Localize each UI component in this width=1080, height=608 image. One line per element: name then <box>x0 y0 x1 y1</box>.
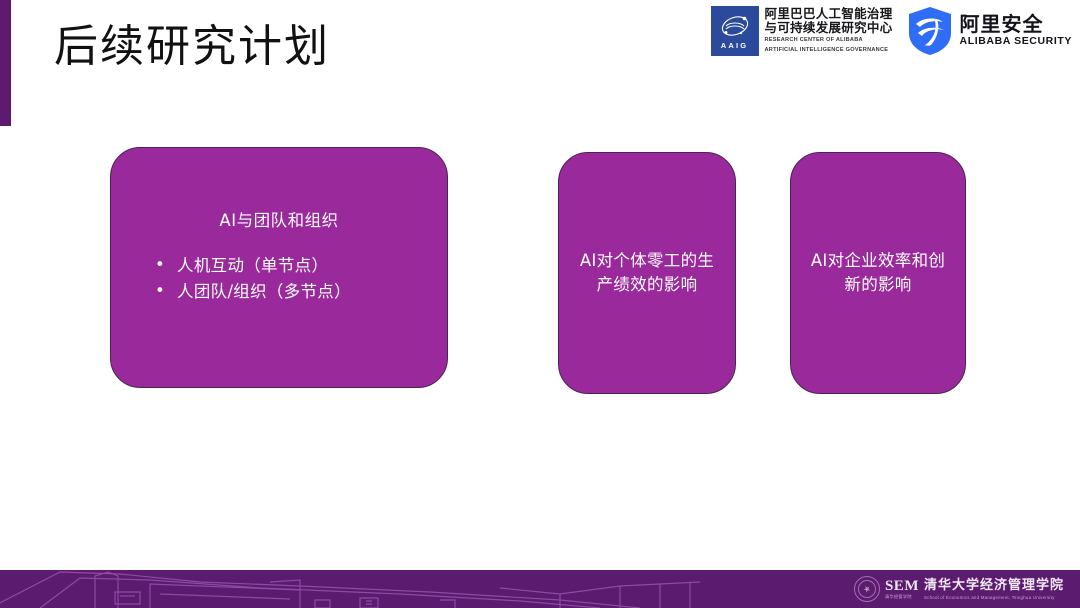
list-item-label: 人团队/组织（多节点） <box>177 279 351 305</box>
page-title: 后续研究计划 <box>54 22 330 73</box>
content-box-firm-efficiency: AI对企业效率和创新的影响 <box>790 152 966 394</box>
box-heading: AI与团队和组织 <box>133 210 425 231</box>
sem-cn-name: 清华大学经济管理学院 <box>924 578 1064 592</box>
box-body-text: AI对个体零工的生产绩效的影响 <box>573 249 721 297</box>
content-box-ai-team-org: AI与团队和组织 • 人机互动（单节点） • 人团队/组织（多节点） <box>110 147 448 388</box>
list-item-label: 人机互动（单节点） <box>177 253 328 279</box>
bullet-list: • 人机互动（单节点） • 人团队/组织（多节点） <box>133 253 425 304</box>
alibaba-security-en: ALIBABA SECURITY <box>960 36 1072 48</box>
alibaba-security-logo: 阿里安全 ALIBABA SECURITY <box>907 6 1072 56</box>
shield-icon <box>907 6 953 56</box>
list-item: • 人机互动（单节点） <box>155 253 425 279</box>
aaig-cn-line-1: 阿里巴巴人工智能治理 <box>765 7 893 21</box>
aaig-logo: AAIG 阿里巴巴人工智能治理 与可持续发展研究中心 RESEARCH CENT… <box>711 6 893 56</box>
sem-abbr-block: SEM 清华经管学院 <box>885 579 919 599</box>
left-accent-stripe <box>0 0 11 126</box>
box-body-text: AI对企业效率和创新的影响 <box>805 249 951 297</box>
aaig-cn-line-2: 与可持续发展研究中心 <box>765 21 893 35</box>
sem-en-name: School of Economics and Management, Tsin… <box>924 595 1064 600</box>
aaig-wordmark: AAIG <box>721 41 749 50</box>
sem-logo: SEM 清华经管学院 清华大学经济管理学院 School of Economic… <box>854 576 1064 602</box>
bullet-marker-icon: • <box>155 279 165 304</box>
list-item: • 人团队/组织（多节点） <box>155 279 425 305</box>
aaig-text-block: 阿里巴巴人工智能治理 与可持续发展研究中心 RESEARCH CENTER OF… <box>765 7 893 54</box>
sem-abbr: SEM <box>885 579 919 594</box>
aaig-en-line-1: RESEARCH CENTER OF ALIBABA <box>765 37 893 45</box>
aaig-en-line-2: ARTIFICIAL INTELLIGENCE GOVERNANCE <box>765 47 893 55</box>
footer-band: SEM 清华经管学院 清华大学经济管理学院 School of Economic… <box>0 570 1080 608</box>
alibaba-security-cn: 阿里安全 <box>960 14 1072 35</box>
tsinghua-seal-icon <box>854 576 880 602</box>
sem-name-block: 清华大学经济管理学院 School of Economics and Manag… <box>924 578 1064 599</box>
sem-abbr-sub: 清华经管学院 <box>885 595 912 599</box>
header-logo-band: AAIG 阿里巴巴人工智能治理 与可持续发展研究中心 RESEARCH CENT… <box>711 6 1072 56</box>
content-box-gig-productivity: AI对个体零工的生产绩效的影响 <box>558 152 736 394</box>
bullet-marker-icon: • <box>155 253 165 278</box>
alibaba-security-text-block: 阿里安全 ALIBABA SECURITY <box>960 14 1072 48</box>
footer-line-art <box>0 570 760 608</box>
aaig-mark-icon: AAIG <box>711 6 759 56</box>
